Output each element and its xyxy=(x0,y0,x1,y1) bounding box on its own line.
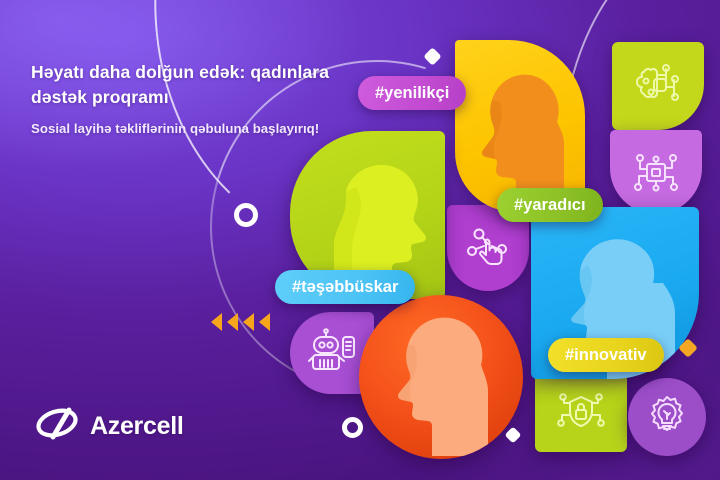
tag-pill-yenilikci[interactable]: #yenilikçi xyxy=(358,76,466,110)
white-ring-left-icon xyxy=(234,203,258,227)
icon-tile-lightbulb-gear-idea[interactable] xyxy=(628,378,706,456)
ai-brain-circuit-icon xyxy=(629,59,687,113)
tag-pill-tesebbuskar[interactable]: #təşəbbüskar xyxy=(275,270,415,304)
portrait-panel-yellow xyxy=(455,40,585,212)
icon-tile-ai-brain-circuit[interactable] xyxy=(612,42,704,130)
portrait-panel-orange xyxy=(359,295,523,459)
touch-pointer-icon xyxy=(460,221,516,275)
azercell-women-support-banner: #yenilikçi #yaradıcı #təşəbbüskar #innov… xyxy=(0,0,720,480)
azercell-a-ellipse-logo-icon xyxy=(36,404,82,449)
page-title: Həyatı daha dolğun edək: qadınlara dəstə… xyxy=(31,60,331,110)
robot-chatbot-icon xyxy=(303,327,361,379)
icon-tile-shield-lock-network[interactable] xyxy=(535,372,627,452)
lightbulb-gear-idea-icon xyxy=(640,390,694,444)
shield-lock-network-icon xyxy=(550,385,612,439)
tag-pill-yaradici[interactable]: #yaradıcı xyxy=(497,188,603,222)
female-silhouette-orange-circle xyxy=(377,303,509,459)
brand-name: Azercell xyxy=(90,412,184,441)
tag-pill-innovativ[interactable]: #innovativ xyxy=(548,338,664,372)
page-subtitle: Sosial layihə təkliflərinin qəbuluna baş… xyxy=(31,119,321,138)
white-ring-bottom-icon xyxy=(342,417,363,438)
tag-label: #yaradıcı xyxy=(514,196,586,215)
tag-label: #təşəbbüskar xyxy=(292,278,398,297)
tag-label: #yenilikçi xyxy=(375,84,449,103)
tag-label: #innovativ xyxy=(565,346,647,365)
azercell-logo[interactable]: Azercell xyxy=(36,404,184,449)
microchip-network-icon xyxy=(627,145,685,199)
